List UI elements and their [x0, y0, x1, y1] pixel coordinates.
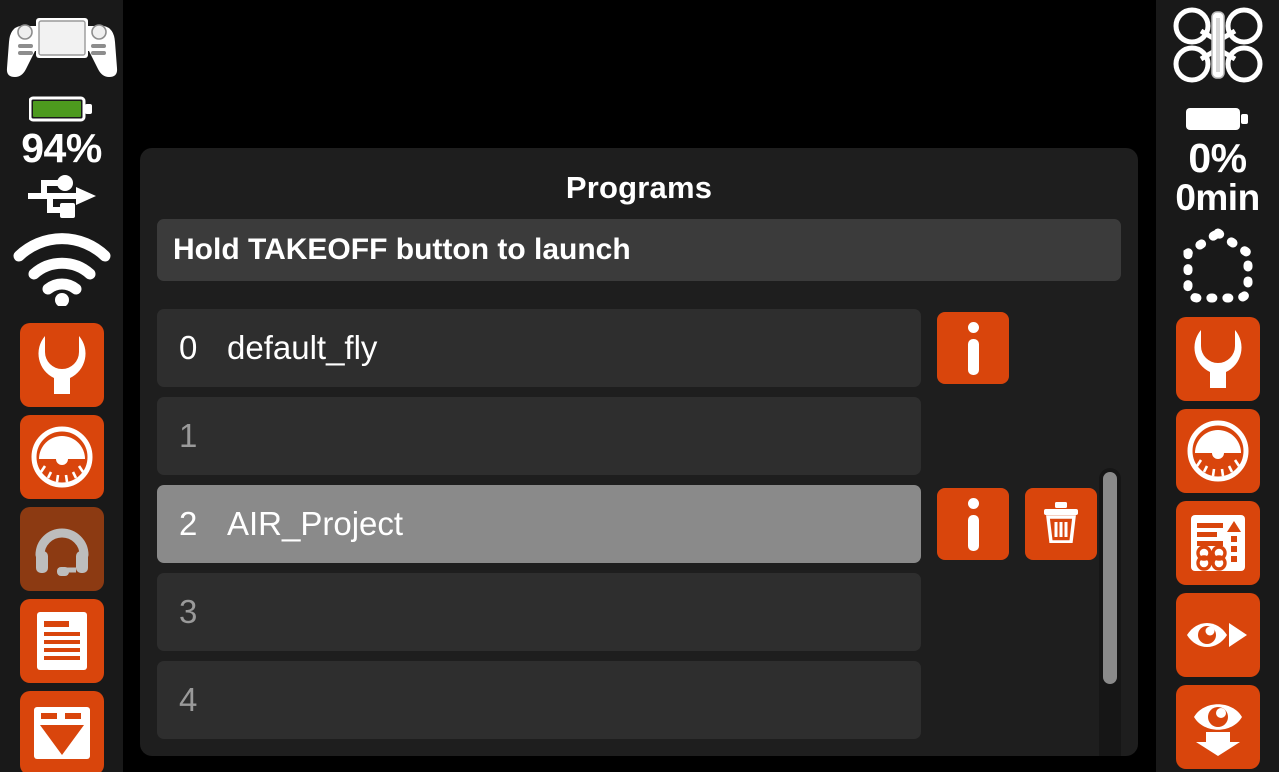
download-folder-button[interactable] — [20, 691, 104, 772]
document-lines-icon — [35, 610, 89, 672]
right-sidebar: 0% 0min — [1155, 0, 1279, 772]
info-placeholder-3 — [937, 576, 1009, 648]
drone-telemetry-gauge-button[interactable] — [1176, 409, 1260, 493]
delete-placeholder-3 — [1025, 576, 1097, 648]
programs-panel: Programs Hold TAKEOFF button to launch 0… — [140, 148, 1138, 756]
eye-arrow-right-icon — [1185, 614, 1251, 656]
headset-audio-button[interactable] — [20, 507, 104, 591]
wrench-icon — [1189, 328, 1247, 390]
info-placeholder-1 — [937, 400, 1009, 472]
settings-wrench-button[interactable] — [20, 323, 104, 407]
delete-placeholder-4 — [1025, 664, 1097, 736]
drone-battery-level: 0% — [1188, 138, 1246, 179]
page-title: Programs — [140, 148, 1138, 206]
program-info-button-0[interactable] — [937, 312, 1009, 384]
right-status-block: 0% 0min — [1171, 0, 1265, 309]
view-forward-button[interactable] — [1176, 593, 1260, 677]
upload-program-button[interactable] — [1176, 501, 1260, 585]
gamepad-icon — [6, 6, 118, 83]
info-placeholder-4 — [937, 664, 1009, 736]
dashed-geofence-icon — [1180, 228, 1256, 309]
table-row: 2 AIR_Project — [157, 484, 1121, 564]
eye-arrow-down-icon — [1190, 696, 1246, 758]
gauge-icon — [31, 426, 93, 488]
program-index: 1 — [179, 417, 213, 455]
program-info-button-2[interactable] — [937, 488, 1009, 560]
headset-icon — [33, 521, 91, 577]
info-icon — [968, 498, 979, 551]
wifi-icon — [12, 232, 112, 311]
wrench-icon — [33, 334, 91, 396]
document-drone-upload-icon — [1189, 513, 1247, 573]
program-slot-4[interactable]: 4 — [157, 661, 921, 739]
drone-flight-time: 0min — [1175, 179, 1259, 216]
program-index: 3 — [179, 593, 213, 631]
program-list: 0 default_fly 1 — [157, 308, 1121, 742]
view-down-button[interactable] — [1176, 685, 1260, 769]
info-icon — [968, 322, 979, 375]
log-document-button[interactable] — [20, 599, 104, 683]
gauge-icon — [1187, 420, 1249, 482]
left-status-block: 94% — [6, 0, 118, 311]
program-name: AIR_Project — [227, 505, 403, 543]
takeoff-hint-text: Hold TAKEOFF button to launch — [173, 233, 631, 267]
table-row: 0 default_fly — [157, 308, 1121, 388]
trash-icon — [1042, 501, 1080, 548]
takeoff-hint-bar: Hold TAKEOFF button to launch — [157, 219, 1121, 281]
main-content: Programs Hold TAKEOFF button to launch 0… — [124, 0, 1155, 772]
battery-icon — [1185, 105, 1251, 138]
program-slot-0[interactable]: 0 default_fly — [157, 309, 921, 387]
program-slot-1[interactable]: 1 — [157, 397, 921, 475]
program-slot-3[interactable]: 3 — [157, 573, 921, 651]
scrollbar-thumb[interactable] — [1103, 472, 1117, 684]
left-rail-buttons — [20, 323, 104, 772]
drone-settings-wrench-button[interactable] — [1176, 317, 1260, 401]
delete-placeholder-0 — [1025, 312, 1097, 384]
table-row: 1 — [157, 396, 1121, 476]
battery-icon — [29, 95, 95, 128]
controller-battery-level: 94% — [21, 128, 102, 169]
program-delete-button-2[interactable] — [1025, 488, 1097, 560]
program-index: 2 — [179, 505, 213, 543]
program-index: 0 — [179, 329, 213, 367]
delete-placeholder-1 — [1025, 400, 1097, 472]
program-slot-2[interactable]: 2 AIR_Project — [157, 485, 921, 563]
folder-download-icon — [32, 705, 92, 761]
app-screen: 94% — [0, 0, 1279, 772]
usb-icon — [24, 171, 100, 226]
telemetry-gauge-button[interactable] — [20, 415, 104, 499]
program-index: 4 — [179, 681, 213, 719]
table-row: 3 — [157, 572, 1121, 652]
program-list-scrollbar[interactable] — [1099, 468, 1121, 756]
left-sidebar: 94% — [0, 0, 124, 772]
table-row: 4 — [157, 660, 1121, 740]
right-rail-buttons — [1176, 317, 1260, 772]
program-name: default_fly — [227, 329, 377, 367]
quadcopter-icon — [1171, 6, 1265, 91]
